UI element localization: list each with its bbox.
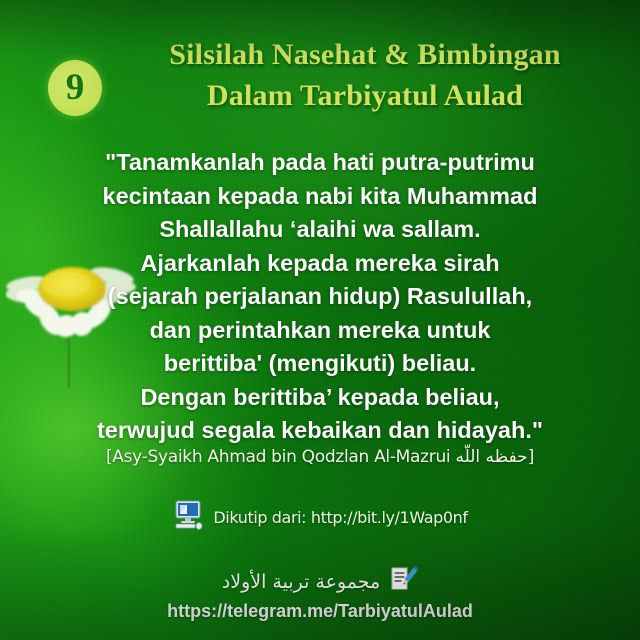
attribution-line: [Asy-Syaikh Ahmad bin Qodzlan Al-Mazrui … [0, 447, 640, 467]
quote-line: Dengan berittiba’ kepada beliau, [32, 381, 608, 415]
quote-line: Ajarkanlah kepada mereka sirah [32, 247, 608, 281]
title-line-2: Dalam Tarbiyatul Aulad [120, 75, 610, 116]
quote-line: "Tanamkanlah pada hati putra-putrimu [32, 146, 608, 180]
attribution-scholar-name: Asy-Syaikh Ahmad bin Qodzlan Al-Mazrui [112, 447, 455, 467]
attribution-close-bracket: ] [528, 447, 534, 467]
quote-body: "Tanamkanlah pada hati putra-putrimu kec… [32, 146, 608, 448]
desktop-computer-icon [172, 500, 204, 535]
title-line-1: Silsilah Nasehat & Bimbingan [120, 34, 610, 75]
attribution-arabic-honorific: حفظه اللّه [455, 447, 527, 467]
episode-number: 9 [66, 69, 85, 106]
source-row: Dikutip dari: http://bit.ly/1Wap0nf [0, 500, 640, 535]
poster-header: 9 Silsilah Nasehat & Bimbingan Dalam Tar… [0, 28, 640, 120]
page-title: Silsilah Nasehat & Bimbingan Dalam Tarbi… [120, 34, 610, 116]
footer-group-row: مجموعة تربية الأولاد [0, 565, 640, 598]
quote-line: Shallallahu ‘alaihi wa sallam. [32, 213, 608, 247]
poster-footer: مجموعة تربية الأولاد [0, 565, 640, 622]
source-citation-text[interactable]: Dikutip dari: http://bit.ly/1Wap0nf [213, 508, 467, 527]
quote-line: kecintaan kepada nabi kita Muhammad [32, 180, 608, 214]
poster-canvas: 9 Silsilah Nasehat & Bimbingan Dalam Tar… [0, 0, 640, 640]
quote-line: dan perintahkan mereka untuk [32, 314, 608, 348]
episode-number-badge: 9 [48, 60, 102, 116]
footer-group-name: مجموعة تربية الأولاد [222, 571, 380, 593]
quote-line: berittiba' (mengikuti) beliau. [32, 347, 608, 381]
memo-pencil-icon [388, 565, 418, 598]
telegram-url[interactable]: https://telegram.me/TarbiyatulAulad [0, 601, 640, 622]
quote-line: (sejarah perjalanan hidup) Rasulullah, [32, 280, 608, 314]
quote-line: terwujud segala kebaikan dan hidayah." [32, 414, 608, 448]
